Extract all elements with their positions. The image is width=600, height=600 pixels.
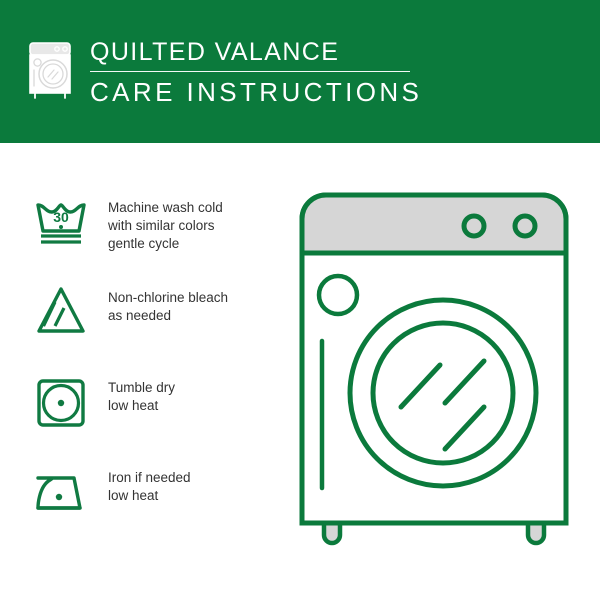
non-chlorine-bleach-triangle-icon bbox=[30, 281, 92, 343]
header-content: QUILTED VALANCE CARE INSTRUCTIONS bbox=[26, 38, 422, 107]
page-subtitle: CARE INSTRUCTIONS bbox=[90, 77, 422, 107]
care-instructions-page: QUILTED VALANCE CARE INSTRUCTIONS 30 Mac… bbox=[0, 0, 600, 600]
care-text: Tumble dry low heat bbox=[108, 371, 175, 415]
care-row: Non-chlorine bleach as needed bbox=[30, 281, 270, 371]
tumble-dry-low-heat-icon bbox=[30, 371, 92, 433]
iron-low-heat-icon bbox=[30, 461, 92, 523]
care-row: 30 Machine wash cold with similar colors… bbox=[30, 191, 270, 281]
care-text-line: with similar colors bbox=[108, 217, 223, 235]
care-text-line: Non-chlorine bleach bbox=[108, 289, 228, 307]
care-symbol-list: 30 Machine wash cold with similar colors… bbox=[30, 191, 270, 551]
care-text-line: Tumble dry bbox=[108, 379, 175, 397]
care-text-line: Iron if needed bbox=[108, 469, 191, 487]
care-text-line: as needed bbox=[108, 307, 228, 325]
care-text: Non-chlorine bleach as needed bbox=[108, 281, 228, 325]
care-text: Machine wash cold with similar colors ge… bbox=[108, 191, 223, 253]
page-title: QUILTED VALANCE bbox=[90, 38, 422, 66]
care-row: Iron if needed low heat bbox=[30, 461, 270, 551]
care-text-line: gentle cycle bbox=[108, 235, 223, 253]
care-text: Iron if needed low heat bbox=[108, 461, 191, 505]
washing-machine-icon bbox=[26, 40, 78, 102]
care-text-line: low heat bbox=[108, 397, 175, 415]
washing-machine-illustration bbox=[288, 185, 578, 565]
header-banner: QUILTED VALANCE CARE INSTRUCTIONS bbox=[0, 0, 600, 143]
care-text-line: low heat bbox=[108, 487, 191, 505]
wash-tub-30-gentle-icon: 30 bbox=[30, 191, 92, 253]
care-row: Tumble dry low heat bbox=[30, 371, 270, 461]
content-area: 30 Machine wash cold with similar colors… bbox=[0, 143, 600, 600]
wash-temperature-label: 30 bbox=[53, 209, 69, 225]
title-block: QUILTED VALANCE CARE INSTRUCTIONS bbox=[90, 38, 422, 107]
title-divider bbox=[90, 71, 410, 72]
care-text-line: Machine wash cold bbox=[108, 199, 223, 217]
